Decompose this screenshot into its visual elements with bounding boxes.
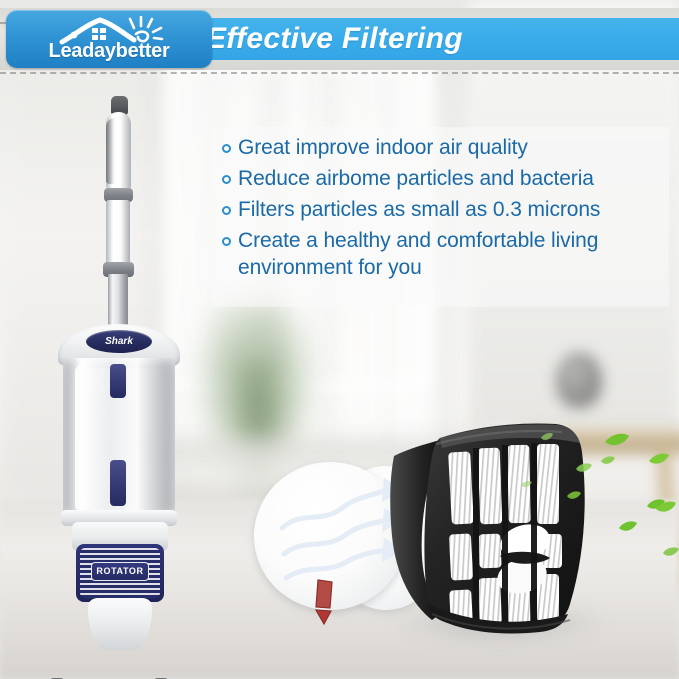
brand-logo-pill: Leadaybetter <box>6 10 212 68</box>
list-item: Create a healthy and comfortable living … <box>222 227 668 281</box>
leaf-icon <box>648 452 670 466</box>
leaf-icon <box>618 520 638 533</box>
leaf-icon <box>600 455 616 466</box>
vacuum-dust-cup-sheen <box>75 364 91 512</box>
list-item: Reduce airbome particles and bacteria <box>222 165 668 192</box>
leaf-icon <box>604 432 630 448</box>
vacuum-wand-upper <box>106 200 130 266</box>
brand-logo-text: Leadaybetter <box>49 40 170 63</box>
product-infographic: Effective Filtering Leadaybetter <box>0 0 679 679</box>
banner-title: Effective Filtering <box>206 18 463 60</box>
vacuum-latch-top <box>110 364 126 398</box>
leaf-icon <box>662 546 679 558</box>
vacuum-base-stem <box>88 598 152 650</box>
vacuum-rotator-label: ROTATOR <box>91 562 149 581</box>
feature-text: Great improve indoor air quality <box>238 134 528 161</box>
feature-text: Create a healthy and comfortable living … <box>238 227 668 281</box>
list-item: Filters particles as small as 0.3 micron… <box>222 196 668 223</box>
banner-stitch-bottom <box>0 72 679 74</box>
vacuum-brand-label: Shark <box>86 330 152 353</box>
bullet-icon <box>222 206 231 215</box>
list-item: Great improve indoor air quality <box>222 134 668 161</box>
bullet-icon <box>222 237 231 246</box>
bullet-icon <box>222 144 231 153</box>
feature-text: Reduce airbome particles and bacteria <box>238 165 594 192</box>
bullet-icon <box>222 175 231 184</box>
hepa-filter <box>388 408 628 658</box>
leaf-icon <box>520 480 533 489</box>
leaf-icon <box>575 462 593 474</box>
vacuum-latch-bottom <box>110 460 126 506</box>
leaf-icon <box>540 432 554 442</box>
vacuum-handle-shade <box>106 118 115 184</box>
vacuum-cleaner: Shark ROTATOR PROFESSIONAL <box>28 96 188 679</box>
blocked-particle-arrow-icon <box>310 578 338 626</box>
leaf-icon <box>655 500 677 514</box>
leaf-icon <box>566 490 582 501</box>
features-list: Great improve indoor air quality Reduce … <box>222 134 668 285</box>
feature-text: Filters particles as small as 0.3 micron… <box>238 196 600 223</box>
